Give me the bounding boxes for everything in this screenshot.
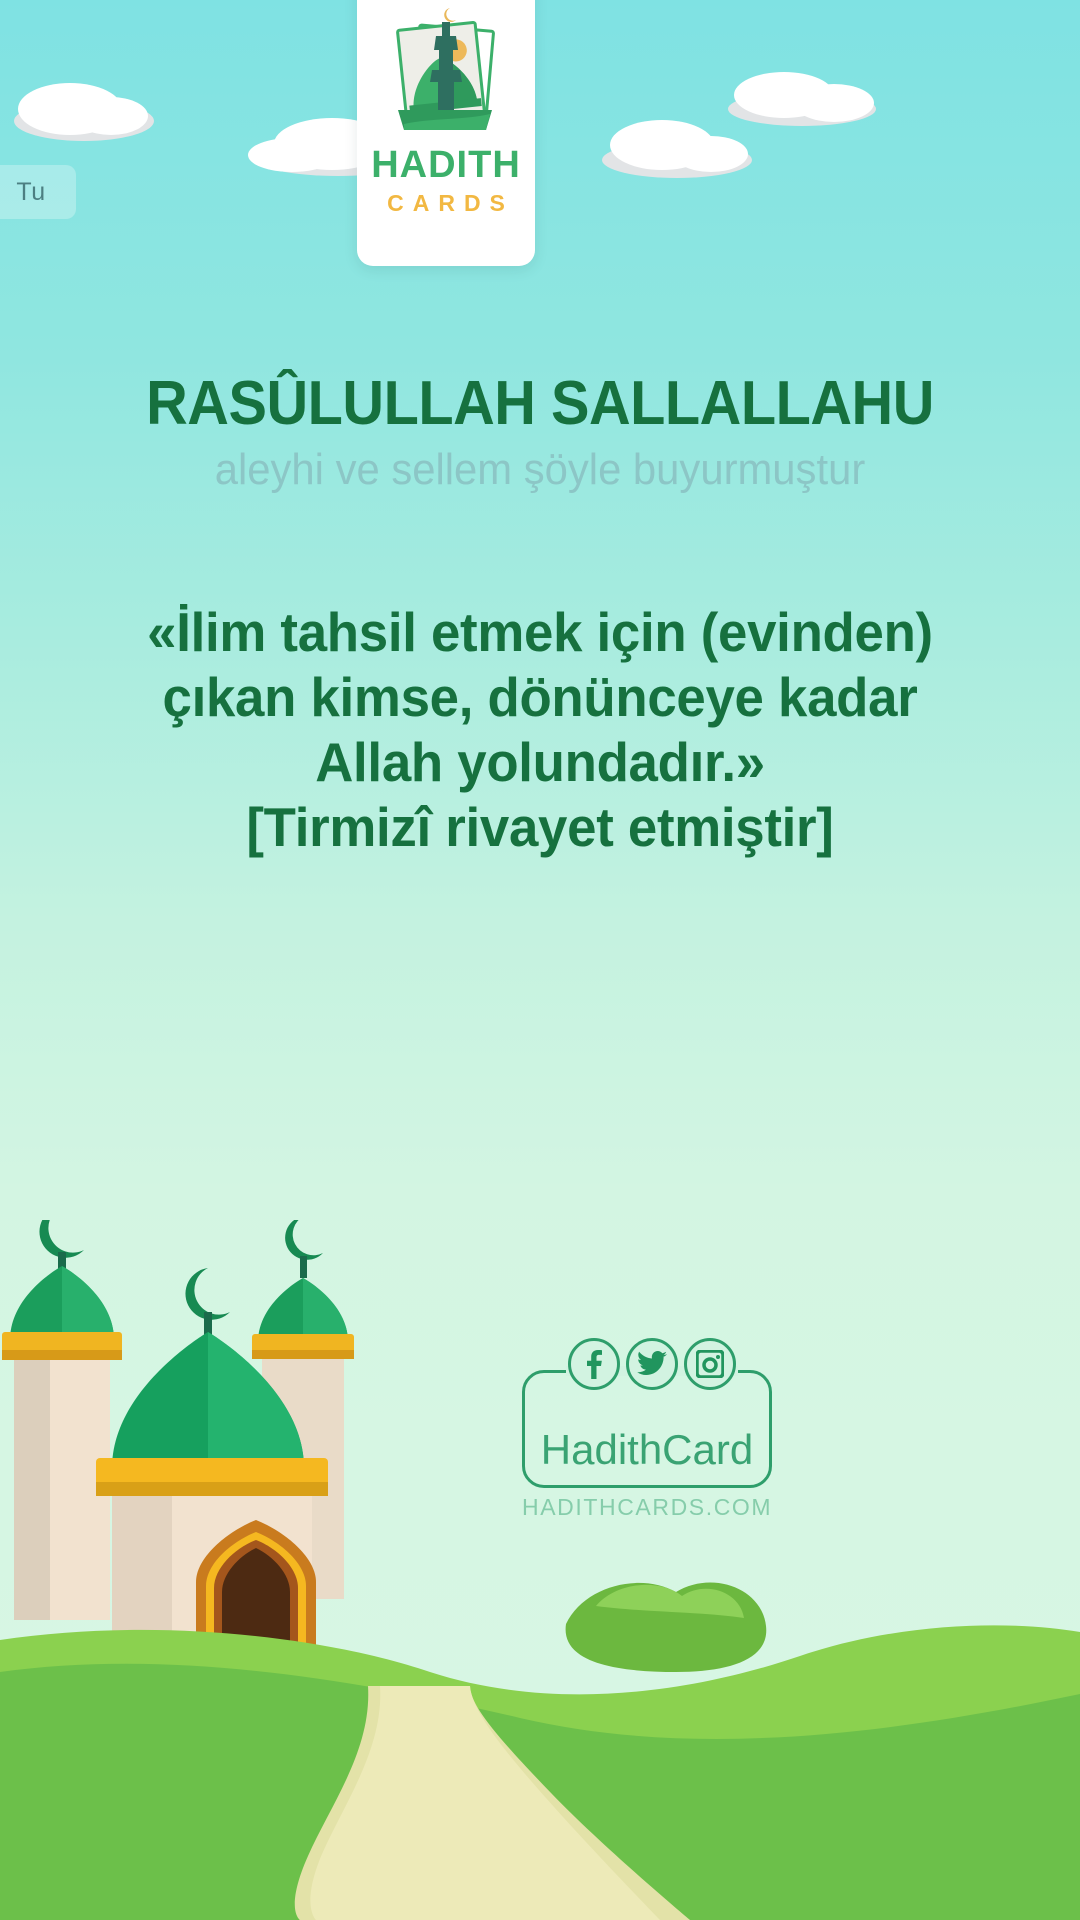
heading-block: RASÛLULLAH SALLALLAHU aleyhi ve sellem ş…	[0, 368, 1080, 495]
background-scene	[0, 0, 1080, 1920]
language-badge[interactable]: Tu	[0, 165, 76, 219]
logo-wordmark: HADITH	[371, 146, 521, 184]
page-subtitle: aleyhi ve sellem şöyle buyurmuştur	[27, 445, 1053, 495]
twitter-icon[interactable]	[626, 1338, 678, 1390]
language-badge-label: Tu	[16, 178, 45, 207]
mosque-landscape-illustration	[0, 1220, 1080, 1920]
hadith-cards-logo-card[interactable]: HADITH CARDS	[357, 0, 535, 266]
instagram-glyph	[696, 1350, 724, 1378]
website-url: HADITHCARDS.COM	[522, 1494, 772, 1521]
bush-right	[566, 1582, 767, 1672]
hadith-line: Allah yolundadır.»	[89, 730, 991, 795]
facebook-icon[interactable]	[568, 1338, 620, 1390]
page-title: RASÛLULLAH SALLALLAHU	[38, 368, 1042, 439]
cloud-right	[724, 68, 882, 132]
cloud-left	[8, 75, 158, 145]
instagram-icon[interactable]	[684, 1338, 736, 1390]
hadith-line: çıkan kimse, dönünceye kadar	[89, 665, 991, 730]
mosque-photo-card-icon	[380, 6, 512, 142]
twitter-glyph	[637, 1351, 667, 1377]
hadith-text: «İlim tahsil etmek için (evinden) çıkan …	[0, 600, 1080, 860]
social-handle: HadithCard	[522, 1426, 772, 1474]
hadith-source: [Tirmizî rivayet etmiştir]	[89, 795, 991, 860]
facebook-glyph	[583, 1349, 605, 1379]
minaret-left	[2, 1220, 122, 1620]
logo-subwordmark: CARDS	[378, 190, 514, 217]
social-badge[interactable]: HadithCard HADITHCARDS.COM	[522, 1370, 772, 1488]
hadith-line: «İlim tahsil etmek için (evinden)	[89, 600, 991, 665]
